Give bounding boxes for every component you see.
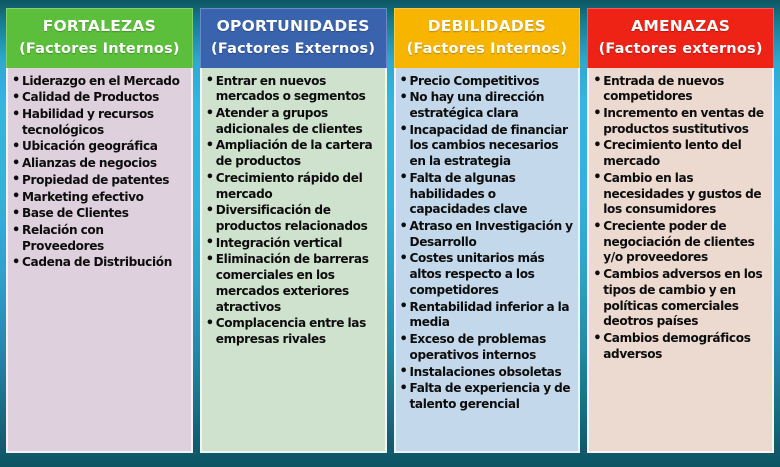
list-item-text: Falta de algunas habilidades o capacidad… xyxy=(410,171,528,216)
list-item: •Cambios adversos en los tipos de cambio… xyxy=(592,267,767,330)
list-item-text: Propiedad de patentes xyxy=(22,173,169,187)
list-item: •Habilidad y recursos tecnológicos xyxy=(11,107,186,138)
bullet-icon: • xyxy=(400,364,408,381)
list-item-text: Costes unitarios más altos respecto a lo… xyxy=(410,251,545,296)
bullet-icon: • xyxy=(400,219,408,236)
bullet-icon: • xyxy=(12,107,20,124)
list-item-text: Relación con Proveedores xyxy=(22,223,104,253)
list-item-text: Entrada de nuevos competidores xyxy=(603,74,724,104)
list-item-text: Complacencia entre las empresas rivales xyxy=(216,316,366,346)
list-item-text: Incapacidad de financiar los cambios nec… xyxy=(410,123,568,168)
column-body-fortalezas: •Liderazgo en el Mercado •Calidad de Pro… xyxy=(6,68,193,453)
column-header-amenazas: AMENAZAS (Factores externos) xyxy=(587,8,774,68)
list-item: •Creciente poder de negociación de clien… xyxy=(592,219,767,266)
list-item: •Crecimiento lento del mercado xyxy=(592,138,767,169)
list-item: •Exceso de problemas operativos internos xyxy=(399,332,574,363)
list-item-text: Base de Clientes xyxy=(22,206,129,220)
swot-column-fortalezas: FORTALEZAS (Factores Internos) •Liderazg… xyxy=(6,8,193,453)
bullet-icon: • xyxy=(206,203,214,220)
column-body-debilidades: •Precio Competitivos •No hay una direcci… xyxy=(394,68,581,453)
list-item-text: Diversificación de productos relacionado… xyxy=(216,203,368,233)
column-title: OPORTUNIDADES xyxy=(203,16,384,36)
list-item: •Incapacidad de financiar los cambios ne… xyxy=(399,123,574,170)
list-item-text: Ampliación de la cartera de productos xyxy=(216,138,373,168)
bullet-icon: • xyxy=(593,106,601,123)
list-item-text: Cambios adversos en los tipos de cambio … xyxy=(603,267,762,328)
bullet-icon: • xyxy=(593,219,601,236)
column-subtitle: (Factores Internos) xyxy=(397,40,578,59)
bullet-icon: • xyxy=(593,170,601,187)
list-item: •Alianzas de negocios xyxy=(11,156,186,172)
bullet-icon: • xyxy=(206,252,214,269)
bullet-icon: • xyxy=(400,90,408,107)
bullet-icon: • xyxy=(206,170,214,187)
swot-column-debilidades: DEBILIDADES (Factores Internos) •Precio … xyxy=(394,8,581,453)
bullet-icon: • xyxy=(206,235,214,252)
bullet-icon: • xyxy=(400,251,408,268)
swot-column-oportunidades: OPORTUNIDADES (Factores Externos) •Entra… xyxy=(200,8,387,453)
column-title: DEBILIDADES xyxy=(397,16,578,36)
bullet-icon: • xyxy=(12,139,20,156)
bullet-icon: • xyxy=(400,381,408,398)
list-item: •Rentabilidad inferior a la media xyxy=(399,300,574,331)
list-item-text: Instalaciones obsoletas xyxy=(410,365,562,379)
bullet-icon: • xyxy=(12,255,20,272)
list-item: •Marketing efectivo xyxy=(11,190,186,206)
list-item: •Integración vertical xyxy=(205,236,380,252)
list-item: •Atender a grupos adicionales de cliente… xyxy=(205,106,380,137)
list-item: •Diversificación de productos relacionad… xyxy=(205,203,380,234)
list-item-text: Crecimiento rápido del mercado xyxy=(216,171,363,201)
column-subtitle: (Factores Externos) xyxy=(203,40,384,59)
list-item-text: Integración vertical xyxy=(216,236,342,250)
swot-column-amenazas: AMENAZAS (Factores externos) •Entrada de… xyxy=(587,8,774,453)
list-item: •Instalaciones obsoletas xyxy=(399,365,574,381)
list-item-text: Marketing efectivo xyxy=(22,190,144,204)
column-body-oportunidades: •Entrar en nuevos mercados o segmentos •… xyxy=(200,68,387,453)
list-item: •Incremento en ventas de productos susti… xyxy=(592,106,767,137)
list-item-text: Cambio en las necesidades y gustos de lo… xyxy=(603,171,761,216)
list-item-text: Atender a grupos adicionales de clientes xyxy=(216,106,363,136)
list-item-text: Atraso en Investigación y Desarrollo xyxy=(410,219,573,249)
column-header-debilidades: DEBILIDADES (Factores Internos) xyxy=(394,8,581,68)
bullet-list-debilidades: •Precio Competitivos •No hay una direcci… xyxy=(399,74,574,413)
swot-columns-container: FORTALEZAS (Factores Internos) •Liderazg… xyxy=(0,0,780,467)
list-item-text: Precio Competitivos xyxy=(410,74,540,88)
list-item: •Base de Clientes xyxy=(11,206,186,222)
list-item: •Costes unitarios más altos respecto a l… xyxy=(399,251,574,298)
bullet-icon: • xyxy=(12,223,20,240)
list-item: •Cambio en las necesidades y gustos de l… xyxy=(592,171,767,218)
bullet-list-fortalezas: •Liderazgo en el Mercado •Calidad de Pro… xyxy=(11,74,186,272)
list-item-text: Cambios demográficos adversos xyxy=(603,331,750,361)
column-subtitle: (Factores Internos) xyxy=(9,40,190,59)
bullet-icon: • xyxy=(400,122,408,139)
list-item: •Calidad de Productos xyxy=(11,90,186,106)
bullet-icon: • xyxy=(12,90,20,107)
bullet-icon: • xyxy=(593,73,601,90)
list-item: •Cambios demográficos adversos xyxy=(592,331,767,362)
list-item: •Relación con Proveedores xyxy=(11,223,186,254)
list-item: •Propiedad de patentes xyxy=(11,173,186,189)
list-item: •Eliminación de barreras comerciales en … xyxy=(205,252,380,315)
list-item: •No hay una dirección estratégica clara xyxy=(399,90,574,121)
bullet-icon: • xyxy=(12,206,20,223)
list-item: •Precio Competitivos xyxy=(399,74,574,90)
bullet-icon: • xyxy=(206,106,214,123)
bullet-icon: • xyxy=(206,138,214,155)
bullet-icon: • xyxy=(593,331,601,348)
list-item-text: Calidad de Productos xyxy=(22,90,159,104)
column-body-amenazas: •Entrada de nuevos competidores •Increme… xyxy=(587,68,774,453)
list-item-text: Rentabilidad inferior a la media xyxy=(410,300,570,330)
column-title: AMENAZAS xyxy=(590,16,771,36)
list-item-text: Incremento en ventas de productos sustit… xyxy=(603,106,764,136)
list-item: •Crecimiento rápido del mercado xyxy=(205,171,380,202)
list-item-text: Liderazgo en el Mercado xyxy=(22,74,180,88)
column-header-oportunidades: OPORTUNIDADES (Factores Externos) xyxy=(200,8,387,68)
list-item-text: No hay una dirección estratégica clara xyxy=(410,90,545,120)
column-subtitle: (Factores externos) xyxy=(590,40,771,59)
list-item: •Ampliación de la cartera de productos xyxy=(205,138,380,169)
bullet-icon: • xyxy=(12,172,20,189)
list-item-text: Exceso de problemas operativos internos xyxy=(410,332,546,362)
list-item-text: Entrar en nuevos mercados o segmentos xyxy=(216,74,366,104)
list-item: •Falta de experiencia y de talento geren… xyxy=(399,381,574,412)
bullet-icon: • xyxy=(206,73,214,90)
bullet-icon: • xyxy=(400,332,408,349)
list-item: •Liderazgo en el Mercado xyxy=(11,74,186,90)
column-title: FORTALEZAS xyxy=(9,16,190,36)
bullet-icon: • xyxy=(12,189,20,206)
list-item: •Ubicación geográfica xyxy=(11,139,186,155)
swot-diagram: FORTALEZAS (Factores Internos) •Liderazg… xyxy=(0,0,780,467)
list-item-text: Habilidad y recursos tecnológicos xyxy=(22,107,154,137)
list-item-text: Cadena de Distribución xyxy=(22,255,172,269)
bullet-icon: • xyxy=(12,73,20,90)
list-item-text: Crecimiento lento del mercado xyxy=(603,138,741,168)
bullet-list-oportunidades: •Entrar en nuevos mercados o segmentos •… xyxy=(205,74,380,348)
bullet-icon: • xyxy=(400,170,408,187)
bullet-icon: • xyxy=(206,316,214,333)
list-item: •Falta de algunas habilidades o capacida… xyxy=(399,171,574,218)
list-item: •Entrar en nuevos mercados o segmentos xyxy=(205,74,380,105)
bullet-list-amenazas: •Entrada de nuevos competidores •Increme… xyxy=(592,74,767,363)
list-item: •Complacencia entre las empresas rivales xyxy=(205,316,380,347)
list-item: •Cadena de Distribución xyxy=(11,255,186,271)
bullet-icon: • xyxy=(400,299,408,316)
bullet-icon: • xyxy=(400,73,408,90)
list-item: •Entrada de nuevos competidores xyxy=(592,74,767,105)
list-item-text: Falta de experiencia y de talento gerenc… xyxy=(410,381,571,411)
column-header-fortalezas: FORTALEZAS (Factores Internos) xyxy=(6,8,193,68)
list-item-text: Eliminación de barreras comerciales en l… xyxy=(216,252,369,313)
bullet-icon: • xyxy=(593,267,601,284)
list-item-text: Creciente poder de negociación de client… xyxy=(603,219,754,264)
bullet-icon: • xyxy=(593,138,601,155)
list-item: •Atraso en Investigación y Desarrollo xyxy=(399,219,574,250)
list-item-text: Alianzas de negocios xyxy=(22,156,157,170)
bullet-icon: • xyxy=(12,156,20,173)
list-item-text: Ubicación geográfica xyxy=(22,139,158,153)
